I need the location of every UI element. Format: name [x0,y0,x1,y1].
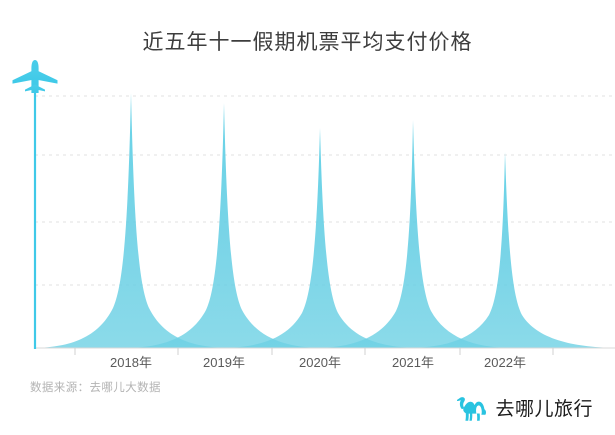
airplane-icon [13,60,58,93]
area-peak-2022 [411,152,615,348]
x-tick-label-2021: 2021年 [368,352,458,371]
data-source-note: 数据来源：去哪儿大数据 [30,379,161,395]
x-axis-labels: 2018年 2019年 2020年 2021年 2022年 [0,352,615,376]
x-tick-label-2020: 2020年 [275,352,365,371]
x-tick-label-2019: 2019年 [179,352,269,371]
area-series [35,93,615,348]
chart-page: 近五年十一假期机票平均支付价格 [0,0,615,435]
x-tick-label-2018: 2018年 [86,352,176,371]
brand-logo: 去哪儿旅行 [454,392,593,426]
camel-icon [454,394,488,424]
plot-area [0,60,615,355]
brand-name: 去哪儿旅行 [495,400,593,419]
area-peak-2021 [318,120,509,348]
area-peak-2018 [35,93,227,348]
x-tick-label-2022: 2022年 [460,352,550,371]
area-peak-2020 [224,128,416,348]
page-title: 近五年十一假期机票平均支付价格 [0,26,615,56]
area-peak-2019 [128,103,320,348]
chart-canvas [0,60,615,355]
